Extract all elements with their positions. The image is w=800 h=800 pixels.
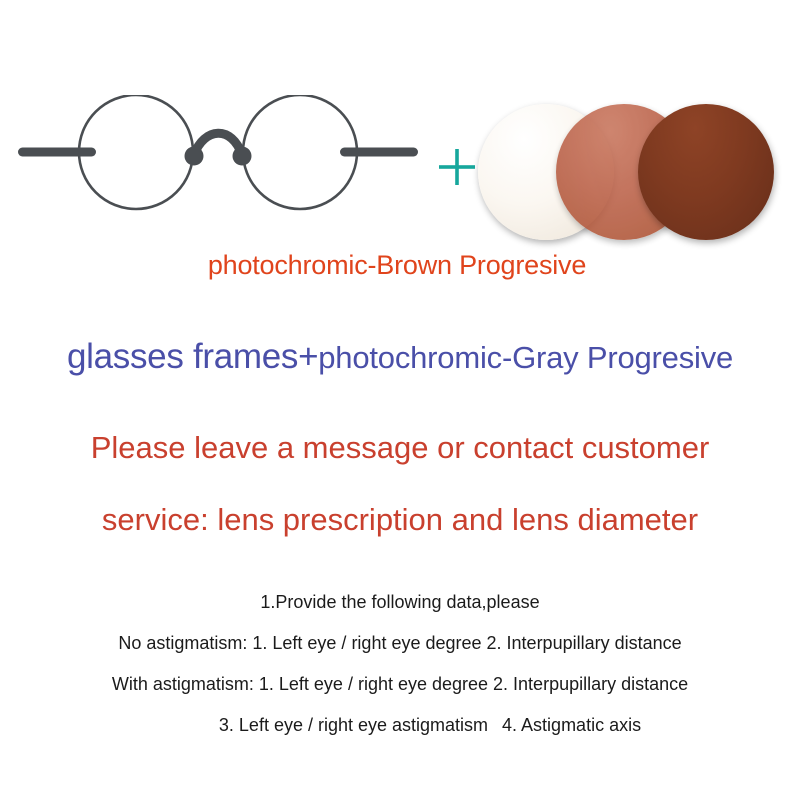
- left-temple-arm: [18, 148, 96, 157]
- requirement-astigmatism-item-4: 4. Astigmatic axis: [502, 715, 641, 735]
- glasses-frames-illustration: [8, 95, 428, 215]
- lens-swatch-dark-brown: [638, 104, 774, 240]
- right-hinge-dot: [233, 147, 252, 166]
- combination-frames-label: glasses frames+: [67, 337, 318, 376]
- combination-gray-lens-label: photochromic-Gray Progresive: [318, 340, 733, 375]
- requirements-block: 1.Provide the following data,please No a…: [0, 582, 800, 746]
- contact-notice-line-1: Please leave a message or contact custom…: [0, 412, 800, 484]
- combination-headline: glasses frames+photochromic-Gray Progres…: [0, 336, 800, 385]
- plus-icon: [436, 146, 478, 188]
- requirement-astigmatism-item-3: 3. Left eye / right eye astigmatism: [219, 715, 488, 735]
- contact-notice: Please leave a message or contact custom…: [0, 412, 800, 556]
- product-listing-image: photochromic-Brown Progresive glasses fr…: [0, 0, 800, 800]
- contact-notice-line-2: service: lens prescription and lens diam…: [0, 484, 800, 556]
- requirement-no-astigmatism: No astigmatism: 1. Left eye / right eye …: [0, 623, 800, 664]
- left-lens-rim: [79, 95, 193, 209]
- requirements-heading: 1.Provide the following data,please: [0, 582, 800, 623]
- requirement-astigmatism-details: 3. Left eye / right eye astigmatism4. As…: [0, 705, 800, 746]
- left-hinge-dot: [185, 147, 204, 166]
- lens-swatch-stack: [478, 104, 778, 244]
- right-temple-arm: [340, 148, 418, 157]
- brown-lens-caption: photochromic-Brown Progresive: [0, 248, 800, 282]
- right-lens-rim: [243, 95, 357, 209]
- requirement-with-astigmatism: With astigmatism: 1. Left eye / right ey…: [0, 664, 800, 705]
